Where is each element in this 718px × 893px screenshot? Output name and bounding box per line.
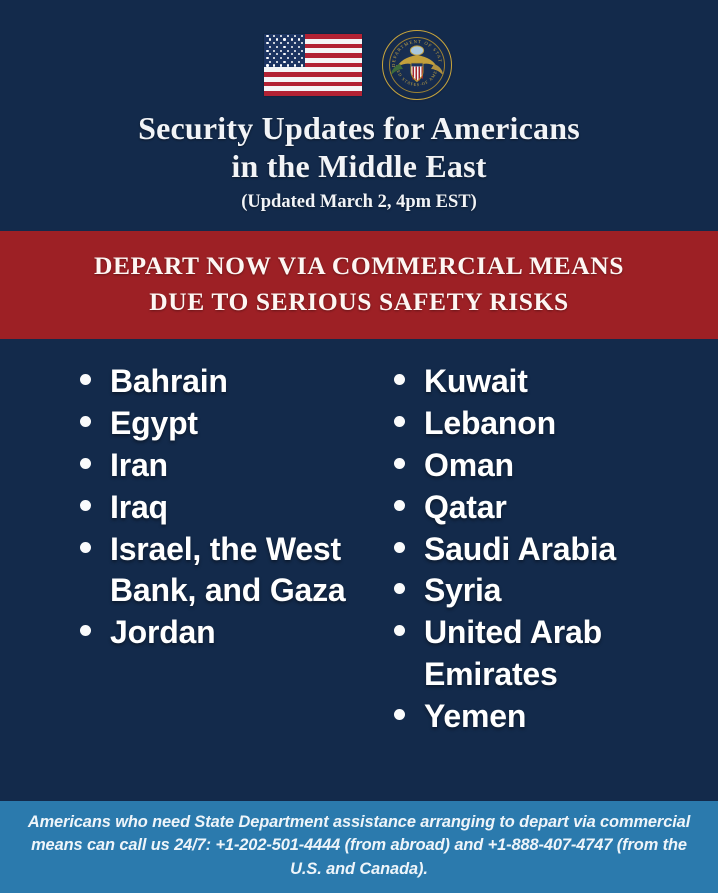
list-item: Bahrain	[80, 361, 372, 403]
bullet-icon	[394, 374, 405, 385]
country-label: Iran	[110, 445, 168, 487]
flag-canton	[264, 34, 305, 67]
country-label: United Arab Emirates	[424, 612, 694, 696]
country-list-left-column: Bahrain Egypt Iran Iraq Israel, the West…	[80, 361, 372, 801]
assistance-footer: Americans who need State Department assi…	[0, 801, 718, 893]
page-title-line-1: Security Updates for Americans	[34, 110, 684, 148]
country-lists: Bahrain Egypt Iran Iraq Israel, the West…	[0, 339, 718, 801]
bullet-icon	[394, 625, 405, 636]
list-item: Jordan	[80, 612, 372, 654]
country-label: Yemen	[424, 696, 526, 738]
list-item: Syria	[394, 570, 694, 612]
country-label: Jordan	[110, 612, 216, 654]
bullet-icon	[394, 416, 405, 427]
list-item: United Arab Emirates	[394, 612, 694, 696]
seal-inner-ring	[389, 37, 445, 93]
title-block: Security Updates for Americans in the Mi…	[0, 104, 718, 213]
header: DEPARTMENT OF STATE UNITED STATES OF AME…	[0, 0, 718, 213]
bullet-icon	[394, 583, 405, 594]
list-item: Yemen	[394, 696, 694, 738]
list-item: Oman	[394, 445, 694, 487]
bullet-icon	[394, 709, 405, 720]
department-of-state-seal-icon: DEPARTMENT OF STATE UNITED STATES OF AME…	[380, 28, 454, 102]
country-label: Saudi Arabia	[424, 529, 616, 571]
country-label: Qatar	[424, 487, 507, 529]
bullet-icon	[80, 542, 91, 553]
country-label: Israel, the West Bank, and Gaza	[110, 529, 372, 613]
list-item: Israel, the West Bank, and Gaza	[80, 529, 372, 613]
country-label: Egypt	[110, 403, 198, 445]
list-item: Saudi Arabia	[394, 529, 694, 571]
alert-banner-line-2: DUE TO SERIOUS SAFETY RISKS	[10, 284, 708, 320]
bullet-icon	[80, 500, 91, 511]
page-title-line-2: in the Middle East	[34, 148, 684, 186]
country-label: Syria	[424, 570, 501, 612]
country-label: Bahrain	[110, 361, 228, 403]
bullet-icon	[80, 458, 91, 469]
list-item: Qatar	[394, 487, 694, 529]
us-flag-icon	[264, 34, 362, 96]
country-list-right-column: Kuwait Lebanon Oman Qatar Saudi Arabia S…	[394, 361, 694, 801]
bullet-icon	[394, 542, 405, 553]
last-updated-subtitle: (Updated March 2, 4pm EST)	[34, 192, 684, 213]
bullet-icon	[80, 374, 91, 385]
list-item: Egypt	[80, 403, 372, 445]
country-label: Kuwait	[424, 361, 528, 403]
emblem-row: DEPARTMENT OF STATE UNITED STATES OF AME…	[0, 26, 718, 104]
list-item: Iran	[80, 445, 372, 487]
bullet-icon	[394, 500, 405, 511]
country-label: Oman	[424, 445, 514, 487]
bullet-icon	[80, 416, 91, 427]
country-label: Lebanon	[424, 403, 556, 445]
list-item: Kuwait	[394, 361, 694, 403]
security-update-graphic: DEPARTMENT OF STATE UNITED STATES OF AME…	[0, 0, 718, 893]
country-label: Iraq	[110, 487, 168, 529]
bullet-icon	[394, 458, 405, 469]
alert-banner-line-1: DEPART NOW VIA COMMERCIAL MEANS	[10, 248, 708, 284]
assistance-footer-text: Americans who need State Department assi…	[26, 811, 692, 881]
list-item: Iraq	[80, 487, 372, 529]
bullet-icon	[80, 625, 91, 636]
list-item: Lebanon	[394, 403, 694, 445]
alert-banner: DEPART NOW VIA COMMERCIAL MEANS DUE TO S…	[0, 231, 718, 339]
